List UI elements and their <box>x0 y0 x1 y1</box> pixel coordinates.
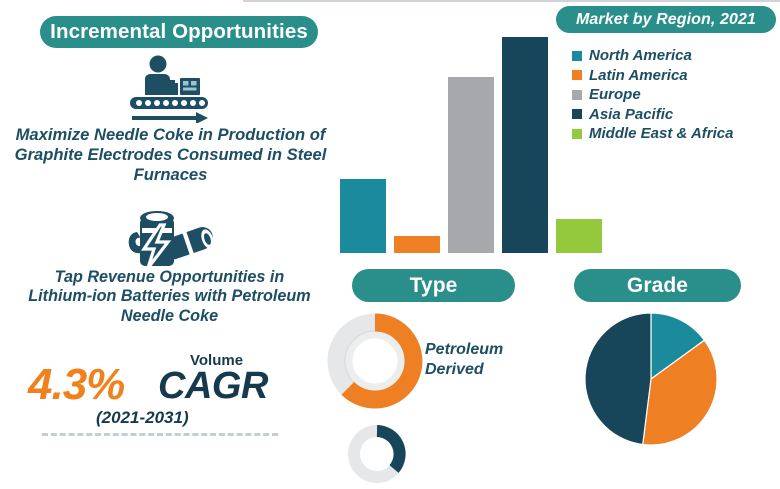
cagr-period: (2021-2031) <box>96 408 189 428</box>
grade-section-title: Grade <box>574 269 741 302</box>
type-donut-chart-secondary <box>347 424 407 484</box>
incremental-opportunities-header: Incremental Opportunities <box>40 16 318 48</box>
region-legend: North AmericaLatin AmericaEuropeAsia Pac… <box>572 46 777 144</box>
legend-swatch-icon <box>572 129 582 139</box>
legend-item-asia-pacific: Asia Pacific <box>572 105 777 125</box>
market-by-region-title: Market by Region, 2021 <box>556 6 776 33</box>
bar-north-america <box>340 179 386 253</box>
grade-pie-chart <box>585 313 717 445</box>
top-divider <box>243 0 780 2</box>
legend-swatch-icon <box>572 51 582 61</box>
type-donut-chart <box>327 313 423 409</box>
legend-label: Asia Pacific <box>589 106 673 123</box>
legend-label: Middle East & Africa <box>589 125 733 142</box>
infographic-canvas: Incremental Opportunities <box>0 0 780 440</box>
bar-middle-east-africa <box>556 219 602 253</box>
legend-item-latin-america: Latin America <box>572 66 777 86</box>
legend-label: North America <box>589 47 692 64</box>
legend-swatch-icon <box>572 90 582 100</box>
legend-swatch-icon <box>572 70 582 80</box>
cagr-value: 4.3% <box>28 360 124 410</box>
cagr-metric-label: CAGR <box>158 365 268 408</box>
pie-slice-super-premium <box>585 313 651 444</box>
bar-asia-pacific <box>502 37 548 253</box>
legend-item-europe: Europe <box>572 85 777 105</box>
legend-label: Europe <box>589 86 641 103</box>
type-donut-label: Petroleum Derived <box>425 340 545 380</box>
market-by-region-bar-chart <box>336 8 606 253</box>
bar-europe <box>448 77 494 253</box>
legend-item-north-america: North America <box>572 46 777 66</box>
batteries-lightning-icon <box>112 202 220 272</box>
dashed-divider <box>42 433 278 436</box>
opportunity-text-1: Maximize Needle Coke in Production of Gr… <box>8 125 333 185</box>
bar-latin-america <box>394 236 440 253</box>
type-section-title: Type <box>352 269 515 302</box>
opportunity-text-2: Tap Revenue Opportunities in Lithium-ion… <box>22 268 317 326</box>
legend-label: Latin America <box>589 67 688 84</box>
conveyor-worker-icon <box>112 55 220 123</box>
legend-swatch-icon <box>572 109 582 119</box>
cagr-block: 4.3% Volume CAGR (2021-2031) <box>18 352 318 424</box>
legend-item-middle-east-africa: Middle East & Africa <box>572 124 777 144</box>
